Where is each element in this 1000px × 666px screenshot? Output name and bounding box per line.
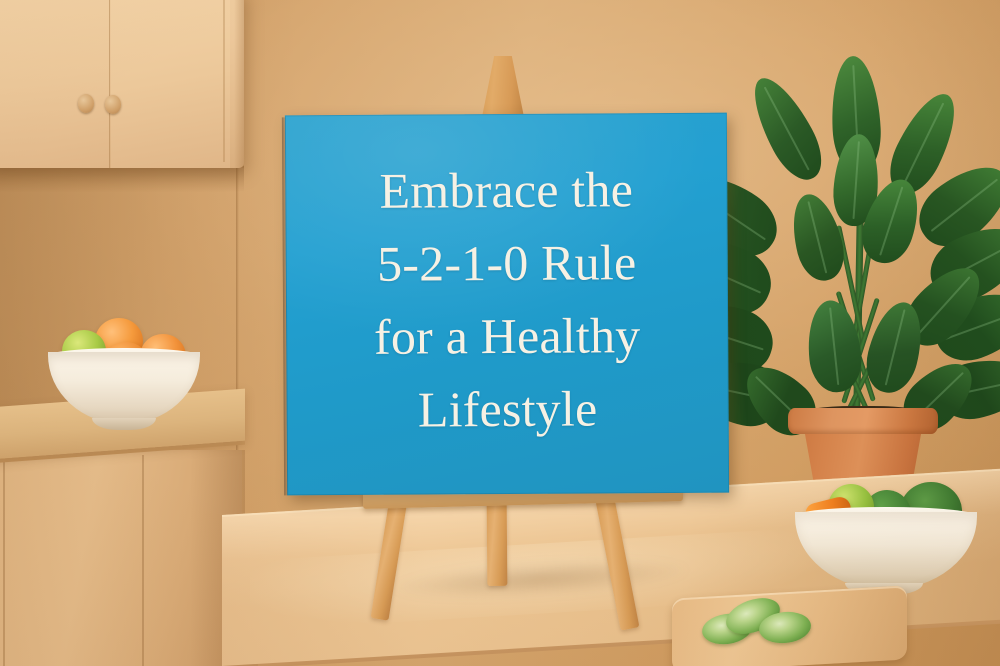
upper-kitchen-cabinets[interactable] [0, 0, 244, 168]
lower-cabinet-seam-right [142, 455, 144, 666]
terracotta-pot-rim [788, 408, 938, 434]
sign-line-2: 5-2-1-0 Rule [377, 226, 637, 301]
cabinet-door-left[interactable] [0, 0, 110, 168]
sign-line-1: Embrace the [379, 153, 633, 228]
cabinet-knob-left[interactable] [78, 94, 94, 113]
sign-board[interactable]: Embrace the 5-2-1-0 Rule for a Healthy L… [285, 113, 729, 496]
easel-leg-center [487, 498, 508, 586]
plant-leaf [741, 69, 832, 189]
sign-line-4: Lifestyle [418, 372, 598, 446]
sign-text-block: Embrace the 5-2-1-0 Rule for a Healthy L… [285, 113, 729, 496]
sign-line-3: for a Healthy [374, 299, 641, 374]
kitchen-scene: Embrace the 5-2-1-0 Rule for a Healthy L… [0, 0, 1000, 666]
cabinet-door-right[interactable] [111, 0, 230, 168]
upper-cabinet-shadow [0, 166, 244, 192]
cabinet-knob-right[interactable] [105, 95, 121, 114]
rubber-plant[interactable] [735, 48, 1000, 428]
lower-cabinet-seam-left [3, 455, 5, 666]
